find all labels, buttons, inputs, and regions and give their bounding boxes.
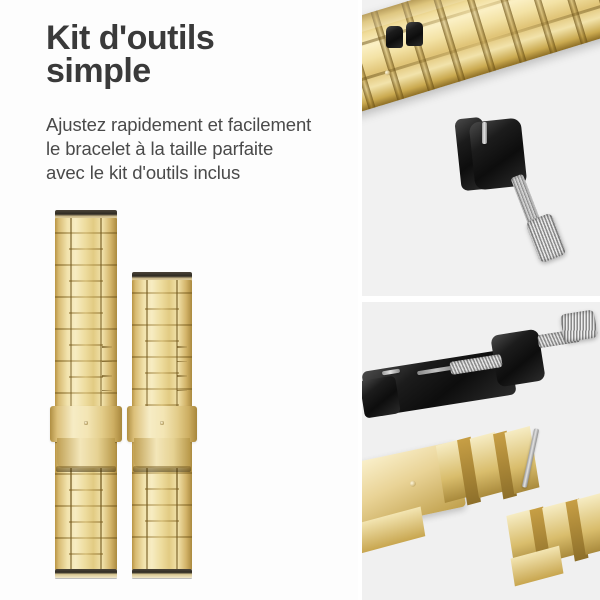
band-size-ticks <box>102 346 112 404</box>
clasp-button <box>160 421 164 425</box>
tool-in-use-photo <box>362 0 600 296</box>
clasp-tab <box>134 438 190 468</box>
watch-band-large <box>55 210 117 578</box>
tool-pin-nub-left <box>386 26 403 48</box>
headline-line-2: simple <box>46 55 346 88</box>
tool-knurled-knob <box>560 310 598 343</box>
tool-and-links-photo <box>362 302 600 600</box>
tool-pusher-pin <box>482 122 487 144</box>
clasp-button <box>409 480 416 487</box>
page-title: Kit d'outils simple <box>46 22 346 89</box>
clasp-button <box>84 421 88 425</box>
band-size-ticks <box>177 346 187 404</box>
band-lug-bottom <box>132 569 192 578</box>
gold-band-angled <box>362 0 600 114</box>
description-line-3: avec le kit d'outils inclus <box>46 161 358 185</box>
clasp-tab <box>57 438 115 468</box>
tool-pin-nub-right <box>406 22 423 46</box>
clasp-tab-edge <box>133 466 192 472</box>
band-clasp <box>50 406 122 442</box>
left-text-panel: Kit d'outils simple Ajustez rapidement e… <box>0 0 358 600</box>
band-lug-bottom <box>55 569 117 578</box>
band-strip <box>55 218 117 570</box>
description-text: Ajustez rapidement et facilement le brac… <box>46 113 358 185</box>
tool-knurled-knob <box>525 212 567 263</box>
description-line-2: le bracelet à la taille parfaite <box>46 137 358 161</box>
watch-band-small <box>132 272 192 578</box>
description-line-1: Ajustez rapidement et facilement <box>46 113 358 137</box>
band-clasp <box>127 406 197 442</box>
clasp-tab-edge <box>56 466 117 472</box>
headline-line-1: Kit d'outils <box>46 19 214 57</box>
tool-jaw <box>362 375 401 418</box>
product-collage: Kit d'outils simple Ajustez rapidement e… <box>0 0 600 600</box>
